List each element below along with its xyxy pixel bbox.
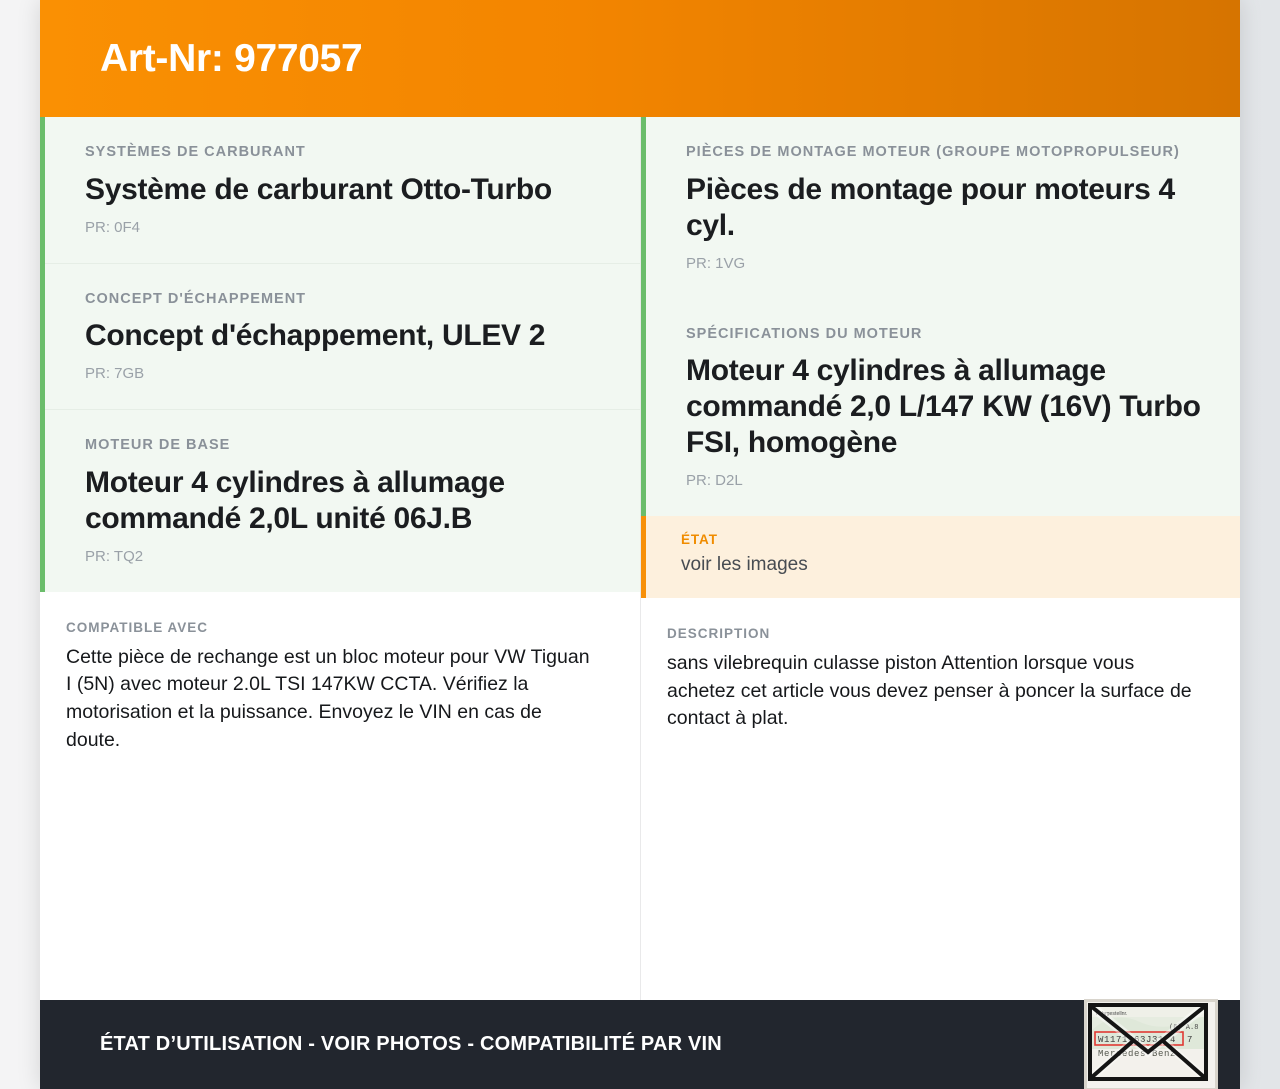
description-section: DESCRIPTION sans vilebrequin culasse pis… xyxy=(641,598,1240,757)
spec-card-label: SPÉCIFICATIONS DU MOTEUR xyxy=(686,325,1214,345)
compatibility-label: COMPATIBLE AVEC xyxy=(66,620,600,635)
compatibility-section: COMPATIBLE AVEC Cette pièce de rechange … xyxy=(40,592,640,779)
right-card-stack-bottom: SPÉCIFICATIONS DU MOTEUR Moteur 4 cylind… xyxy=(641,299,1240,517)
page-footer: ÉTAT D’UTILISATION - VOIR PHOTOS - COMPA… xyxy=(40,1000,1240,1089)
spec-card-title: Moteur 4 cylindres à allumage commandé 2… xyxy=(85,465,614,537)
spec-card-pr-code: PR: D2L xyxy=(686,472,1214,490)
article-sheet: Art-Nr: 977057 SYSTÈMES DE CARBURANT Sys… xyxy=(40,0,1240,1089)
spec-card: SYSTÈMES DE CARBURANT Système de carbura… xyxy=(45,117,640,264)
spec-card-pr-code: PR: 7GB xyxy=(85,365,614,383)
left-card-stack: SYSTÈMES DE CARBURANT Système de carbura… xyxy=(40,117,640,592)
left-column: SYSTÈMES DE CARBURANT Système de carbura… xyxy=(40,117,641,1000)
spec-card-pr-code: PR: TQ2 xyxy=(85,548,614,566)
spec-card-label: PIÈCES DE MONTAGE MOTEUR (GROUPE MOTOPRO… xyxy=(686,143,1214,163)
spec-card: CONCEPT D'ÉCHAPPEMENT Concept d'échappem… xyxy=(45,264,640,411)
spec-card: SPÉCIFICATIONS DU MOTEUR Moteur 4 cylind… xyxy=(646,299,1240,517)
svg-text:7: 7 xyxy=(1187,1035,1192,1045)
right-column-spacer xyxy=(641,757,1240,1000)
content-area: SYSTÈMES DE CARBURANT Système de carbura… xyxy=(40,117,1240,1000)
spec-card-title: Moteur 4 cylindres à allumage commandé 2… xyxy=(686,353,1214,461)
spec-card-title: Système de carburant Otto-Turbo xyxy=(85,172,614,208)
spec-card-label: SYSTÈMES DE CARBURANT xyxy=(85,143,614,163)
compatibility-text: Cette pièce de rechange est un bloc mote… xyxy=(66,644,600,755)
spec-card-label: CONCEPT D'ÉCHAPPEMENT xyxy=(85,290,614,310)
right-column: PIÈCES DE MONTAGE MOTEUR (GROUPE MOTOPRO… xyxy=(641,117,1240,1000)
etat-card: ÉTAT voir les images xyxy=(641,516,1240,598)
etat-value: voir les images xyxy=(681,553,1214,578)
spec-card-label: MOTEUR DE BASE xyxy=(85,436,614,456)
article-number-title: Art-Nr: 977057 xyxy=(40,39,362,78)
spec-card: PIÈCES DE MONTAGE MOTEUR (GROUPE MOTOPRO… xyxy=(646,117,1240,299)
right-card-stack-top: PIÈCES DE MONTAGE MOTEUR (GROUPE MOTOPRO… xyxy=(641,117,1240,299)
description-text: sans vilebrequin culasse piston Attentio… xyxy=(667,650,1200,733)
spec-card-title: Pièces de montage pour moteurs 4 cyl. xyxy=(686,172,1214,244)
spec-card-pr-code: PR: 0F4 xyxy=(85,219,614,237)
etat-label: ÉTAT xyxy=(681,532,1214,547)
vin-document-svg: Fahrgestellnr. (6) A.8 W1171463J31 4 7 M… xyxy=(1087,1002,1209,1082)
page-header: Art-Nr: 977057 xyxy=(40,0,1240,117)
envelope-vin-document-icon: Fahrgestellnr. (6) A.8 W1171463J31 4 7 M… xyxy=(1084,999,1218,1089)
spec-card-pr-code: PR: 1VG xyxy=(686,255,1214,273)
footer-notice-text: ÉTAT D’UTILISATION - VOIR PHOTOS - COMPA… xyxy=(100,1033,722,1056)
description-label: DESCRIPTION xyxy=(667,626,1200,641)
spec-card-title: Concept d'échappement, ULEV 2 xyxy=(85,318,614,354)
left-column-spacer xyxy=(40,778,640,1000)
spec-card: MOTEUR DE BASE Moteur 4 cylindres à allu… xyxy=(45,410,640,592)
